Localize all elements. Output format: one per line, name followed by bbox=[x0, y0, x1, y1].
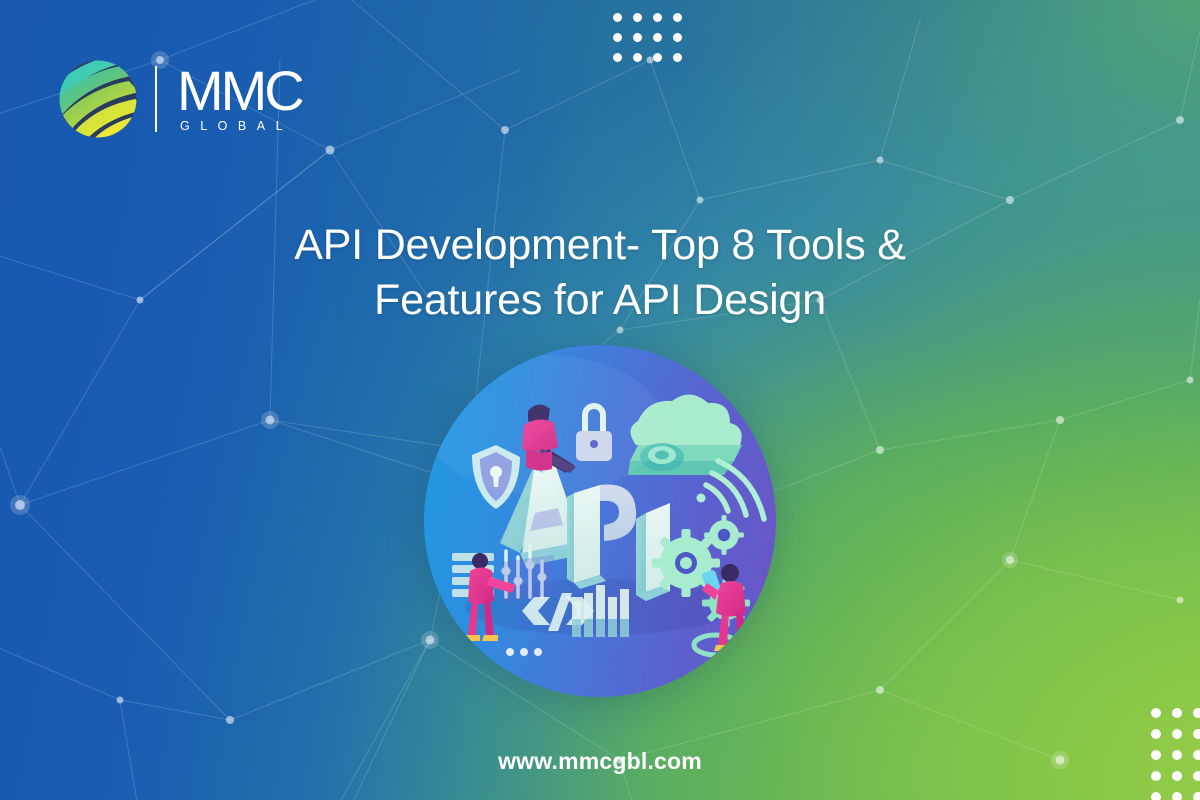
dot bbox=[613, 33, 622, 42]
dot bbox=[613, 13, 622, 22]
dot bbox=[673, 33, 682, 42]
decorative-dot-grid-top bbox=[608, 8, 688, 68]
dot bbox=[673, 53, 682, 62]
dot bbox=[1151, 792, 1161, 800]
brand-logo[interactable]: MMC GLOBAL bbox=[57, 58, 302, 140]
api-isometric-illustration bbox=[424, 345, 776, 697]
dot bbox=[1193, 792, 1200, 800]
dot bbox=[1172, 792, 1182, 800]
dot bbox=[633, 13, 642, 22]
dot bbox=[653, 33, 662, 42]
hero-illustration bbox=[424, 345, 776, 697]
striped-sphere-icon bbox=[57, 58, 139, 140]
page-title: API Development- Top 8 Tools & Features … bbox=[0, 218, 1200, 328]
gear-top-icon bbox=[704, 515, 744, 555]
dot bbox=[673, 13, 682, 22]
logo-tagline: GLOBAL bbox=[180, 119, 302, 133]
footer-website-url[interactable]: www.mmcgbl.com bbox=[0, 748, 1200, 775]
dot bbox=[1193, 729, 1200, 739]
blog-banner: MMC GLOBAL API Development- Top 8 Tools … bbox=[0, 0, 1200, 800]
dot bbox=[1193, 708, 1200, 718]
dot bbox=[613, 53, 622, 62]
pagination-dots bbox=[506, 648, 542, 656]
dot bbox=[653, 53, 662, 62]
dot bbox=[1172, 708, 1182, 718]
dot bbox=[633, 33, 642, 42]
page-title-line-2: Features for API Design bbox=[200, 273, 1000, 328]
dot bbox=[1172, 729, 1182, 739]
dot bbox=[1151, 708, 1161, 718]
page-title-line-1: API Development- Top 8 Tools & bbox=[200, 218, 1000, 273]
letter-p-3d bbox=[567, 485, 636, 589]
logo-wordmark: MMC bbox=[177, 65, 302, 117]
logo-wordmark-group: MMC GLOBAL bbox=[177, 65, 302, 134]
dot bbox=[1151, 729, 1161, 739]
dot bbox=[633, 53, 642, 62]
dot bbox=[653, 13, 662, 22]
logo-divider bbox=[155, 66, 157, 132]
